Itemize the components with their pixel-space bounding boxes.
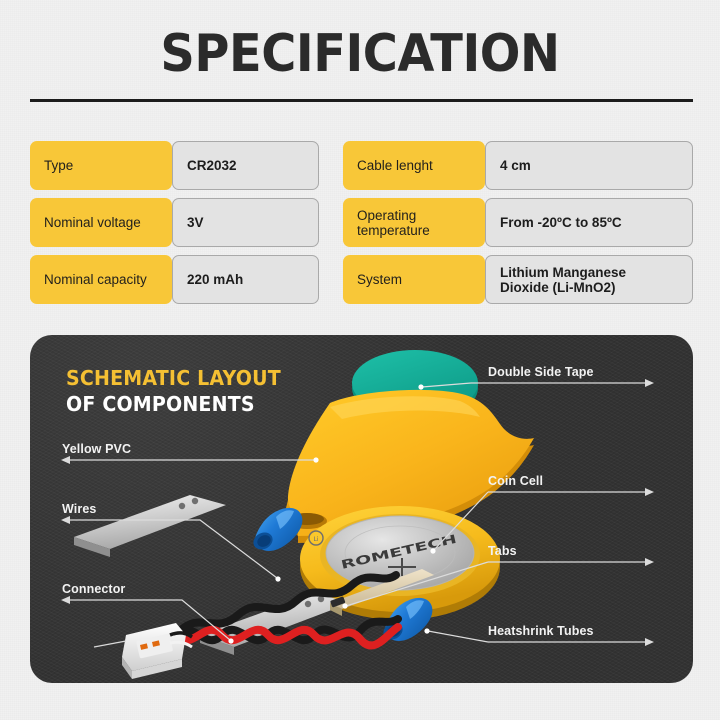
spec-label-nominal-capacity: Nominal capacity [30,255,172,304]
leader-label-double-side-tape: Double Side Tape [488,365,594,379]
leader-label-yellow-pvc: Yellow PVC [62,442,131,456]
leader-label-heatshrink-tubes: Heatshrink Tubes [488,624,594,638]
column-gap [319,255,343,304]
spec-value-type: CR2032 [172,141,319,190]
specification-page: SPECIFICATION Type CR2032 Cable lenght 4… [0,0,720,720]
specification-table: Type CR2032 Cable lenght 4 cm Nominal vo… [30,141,693,304]
tab-upper-part [74,495,226,557]
spec-value-nominal-capacity: 220 mAh [172,255,319,304]
spec-label-system: System [343,255,485,304]
spec-value-system: Lithium Manganese Dioxide (Li-MnO2) [485,255,693,304]
leader-label-connector: Connector [62,582,125,596]
spec-label-cable-length: Cable lenght [343,141,485,190]
spec-label-nominal-voltage: Nominal voltage [30,198,172,247]
spec-label-operating-temperature: Operating temperature [343,198,485,247]
schematic-panel: SCHEMATIC LAYOUT OF COMPONENTS [30,335,693,683]
heatshrink-tube-upper-part [250,508,302,553]
column-gap [319,141,343,190]
leader-label-tabs: Tabs [488,544,517,558]
connector-part [94,623,192,679]
leader-label-wires: Wires [62,502,96,516]
leader-label-coin-cell: Coin Cell [488,474,543,488]
title-divider [30,99,693,102]
page-title: SPECIFICATION [29,26,691,82]
spec-value-cable-length: 4 cm [485,141,693,190]
spec-label-type: Type [30,141,172,190]
svg-text:Li: Li [313,536,318,543]
column-gap [319,198,343,247]
spec-value-nominal-voltage: 3V [172,198,319,247]
spec-value-operating-temperature: From -20ºC to 85ºC [485,198,693,247]
